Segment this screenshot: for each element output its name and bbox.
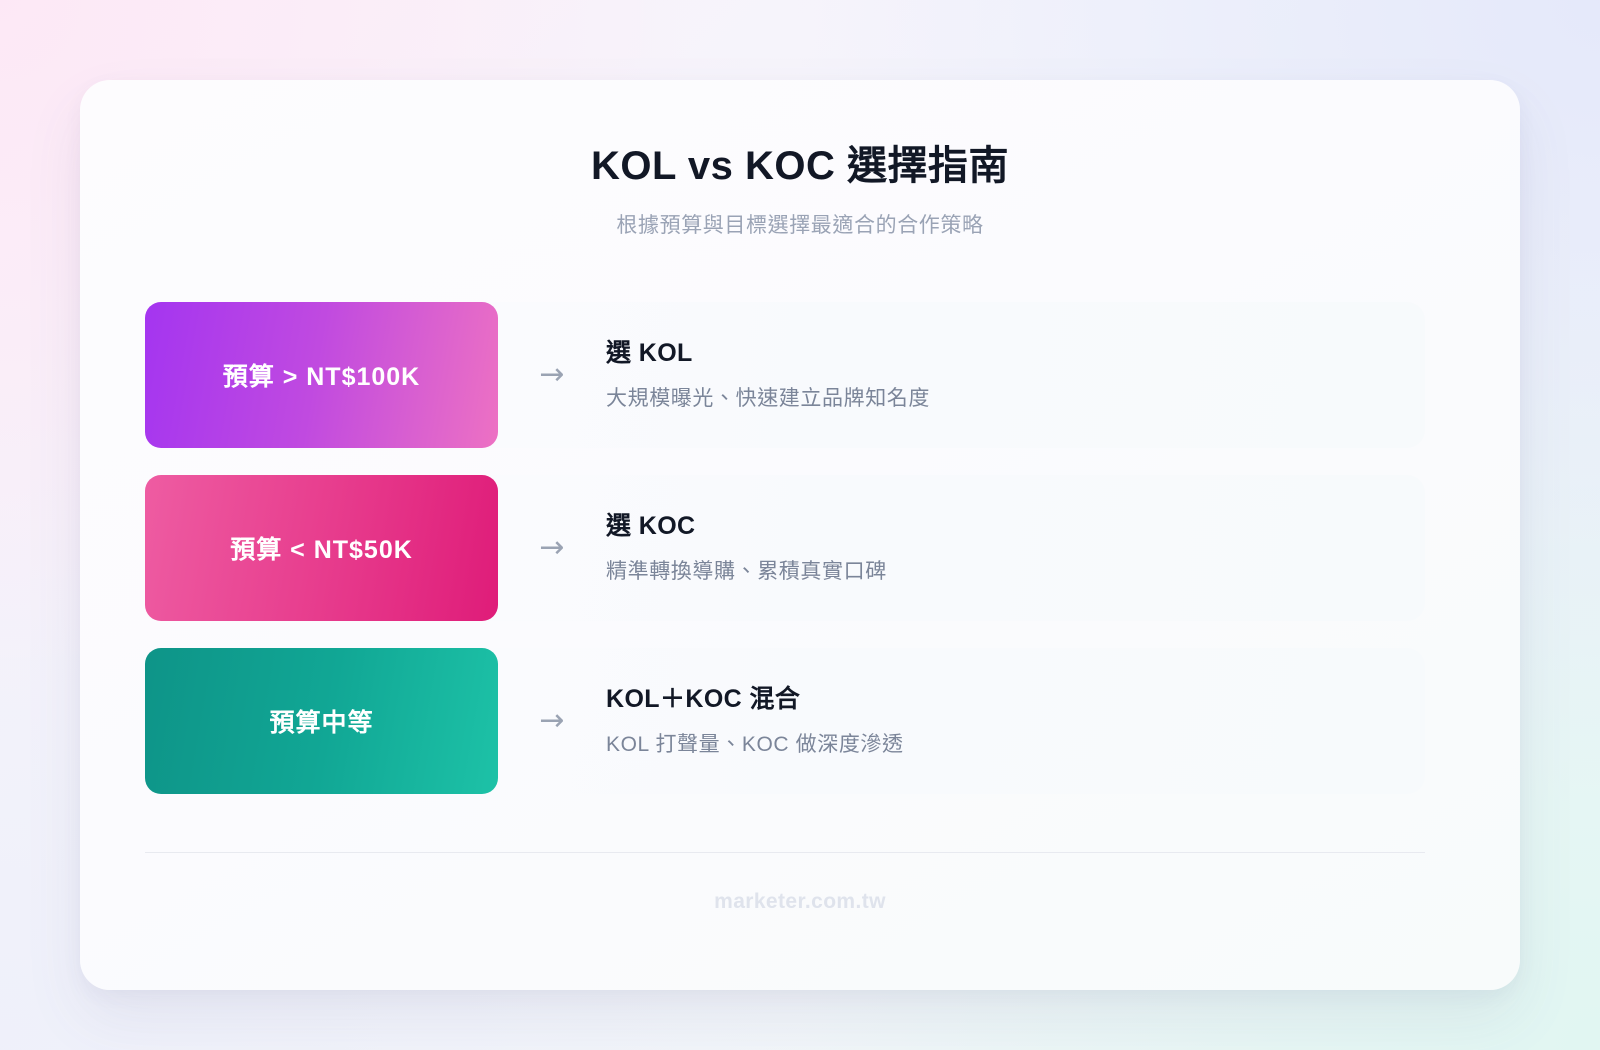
recommendation-heading: KOL＋KOC 混合 xyxy=(606,684,1395,715)
recommendation-heading: 選 KOC xyxy=(606,511,1395,542)
decision-row: 預算 < NT$50K → 選 KOC 精準轉換導購、累積真實口碑 xyxy=(145,475,1425,621)
recommendation-content: KOL＋KOC 混合 KOL 打聲量、KOC 做深度滲透 xyxy=(606,684,1425,759)
budget-badge-high: 預算 > NT$100K xyxy=(145,302,498,448)
budget-badge-label: 預算 < NT$50K xyxy=(230,530,413,566)
guide-card: KOL vs KOC 選擇指南 根據預算與目標選擇最適合的合作策略 預算 > N… xyxy=(80,80,1520,990)
decision-row: 預算中等 → KOL＋KOC 混合 KOL 打聲量、KOC 做深度滲透 xyxy=(145,648,1425,794)
recommendation-description: 大規模曝光、快速建立品牌知名度 xyxy=(606,385,1395,412)
budget-badge-label: 預算中等 xyxy=(269,703,373,739)
recommendation-description: 精準轉換導購、累積真實口碑 xyxy=(606,558,1395,585)
recommendation-content: 選 KOL 大規模曝光、快速建立品牌知名度 xyxy=(606,338,1425,413)
recommendation-description: KOL 打聲量、KOC 做深度滲透 xyxy=(606,731,1395,758)
budget-badge-medium: 預算中等 xyxy=(145,648,498,794)
card-footer: marketer.com.tw xyxy=(80,890,1520,914)
page-subtitle: 根據預算與目標選擇最適合的合作策略 xyxy=(80,212,1520,239)
card-header: KOL vs KOC 選擇指南 根據預算與目標選擇最適合的合作策略 xyxy=(80,80,1520,239)
decision-row: 預算 > NT$100K → 選 KOL 大規模曝光、快速建立品牌知名度 xyxy=(145,302,1425,448)
recommendation-content: 選 KOC 精準轉換導購、累積真實口碑 xyxy=(606,511,1425,586)
budget-badge-label: 預算 > NT$100K xyxy=(223,357,421,393)
recommendation-heading: 選 KOL xyxy=(606,338,1395,369)
page-title: KOL vs KOC 選擇指南 xyxy=(80,142,1520,190)
decision-rows: 預算 > NT$100K → 選 KOL 大規模曝光、快速建立品牌知名度 預算 … xyxy=(145,302,1425,794)
arrow-right-icon: → xyxy=(498,706,606,736)
footer-divider xyxy=(145,852,1425,853)
site-watermark: marketer.com.tw xyxy=(714,890,886,913)
arrow-right-icon: → xyxy=(498,533,606,563)
budget-badge-low: 預算 < NT$50K xyxy=(145,475,498,621)
arrow-right-icon: → xyxy=(498,360,606,390)
